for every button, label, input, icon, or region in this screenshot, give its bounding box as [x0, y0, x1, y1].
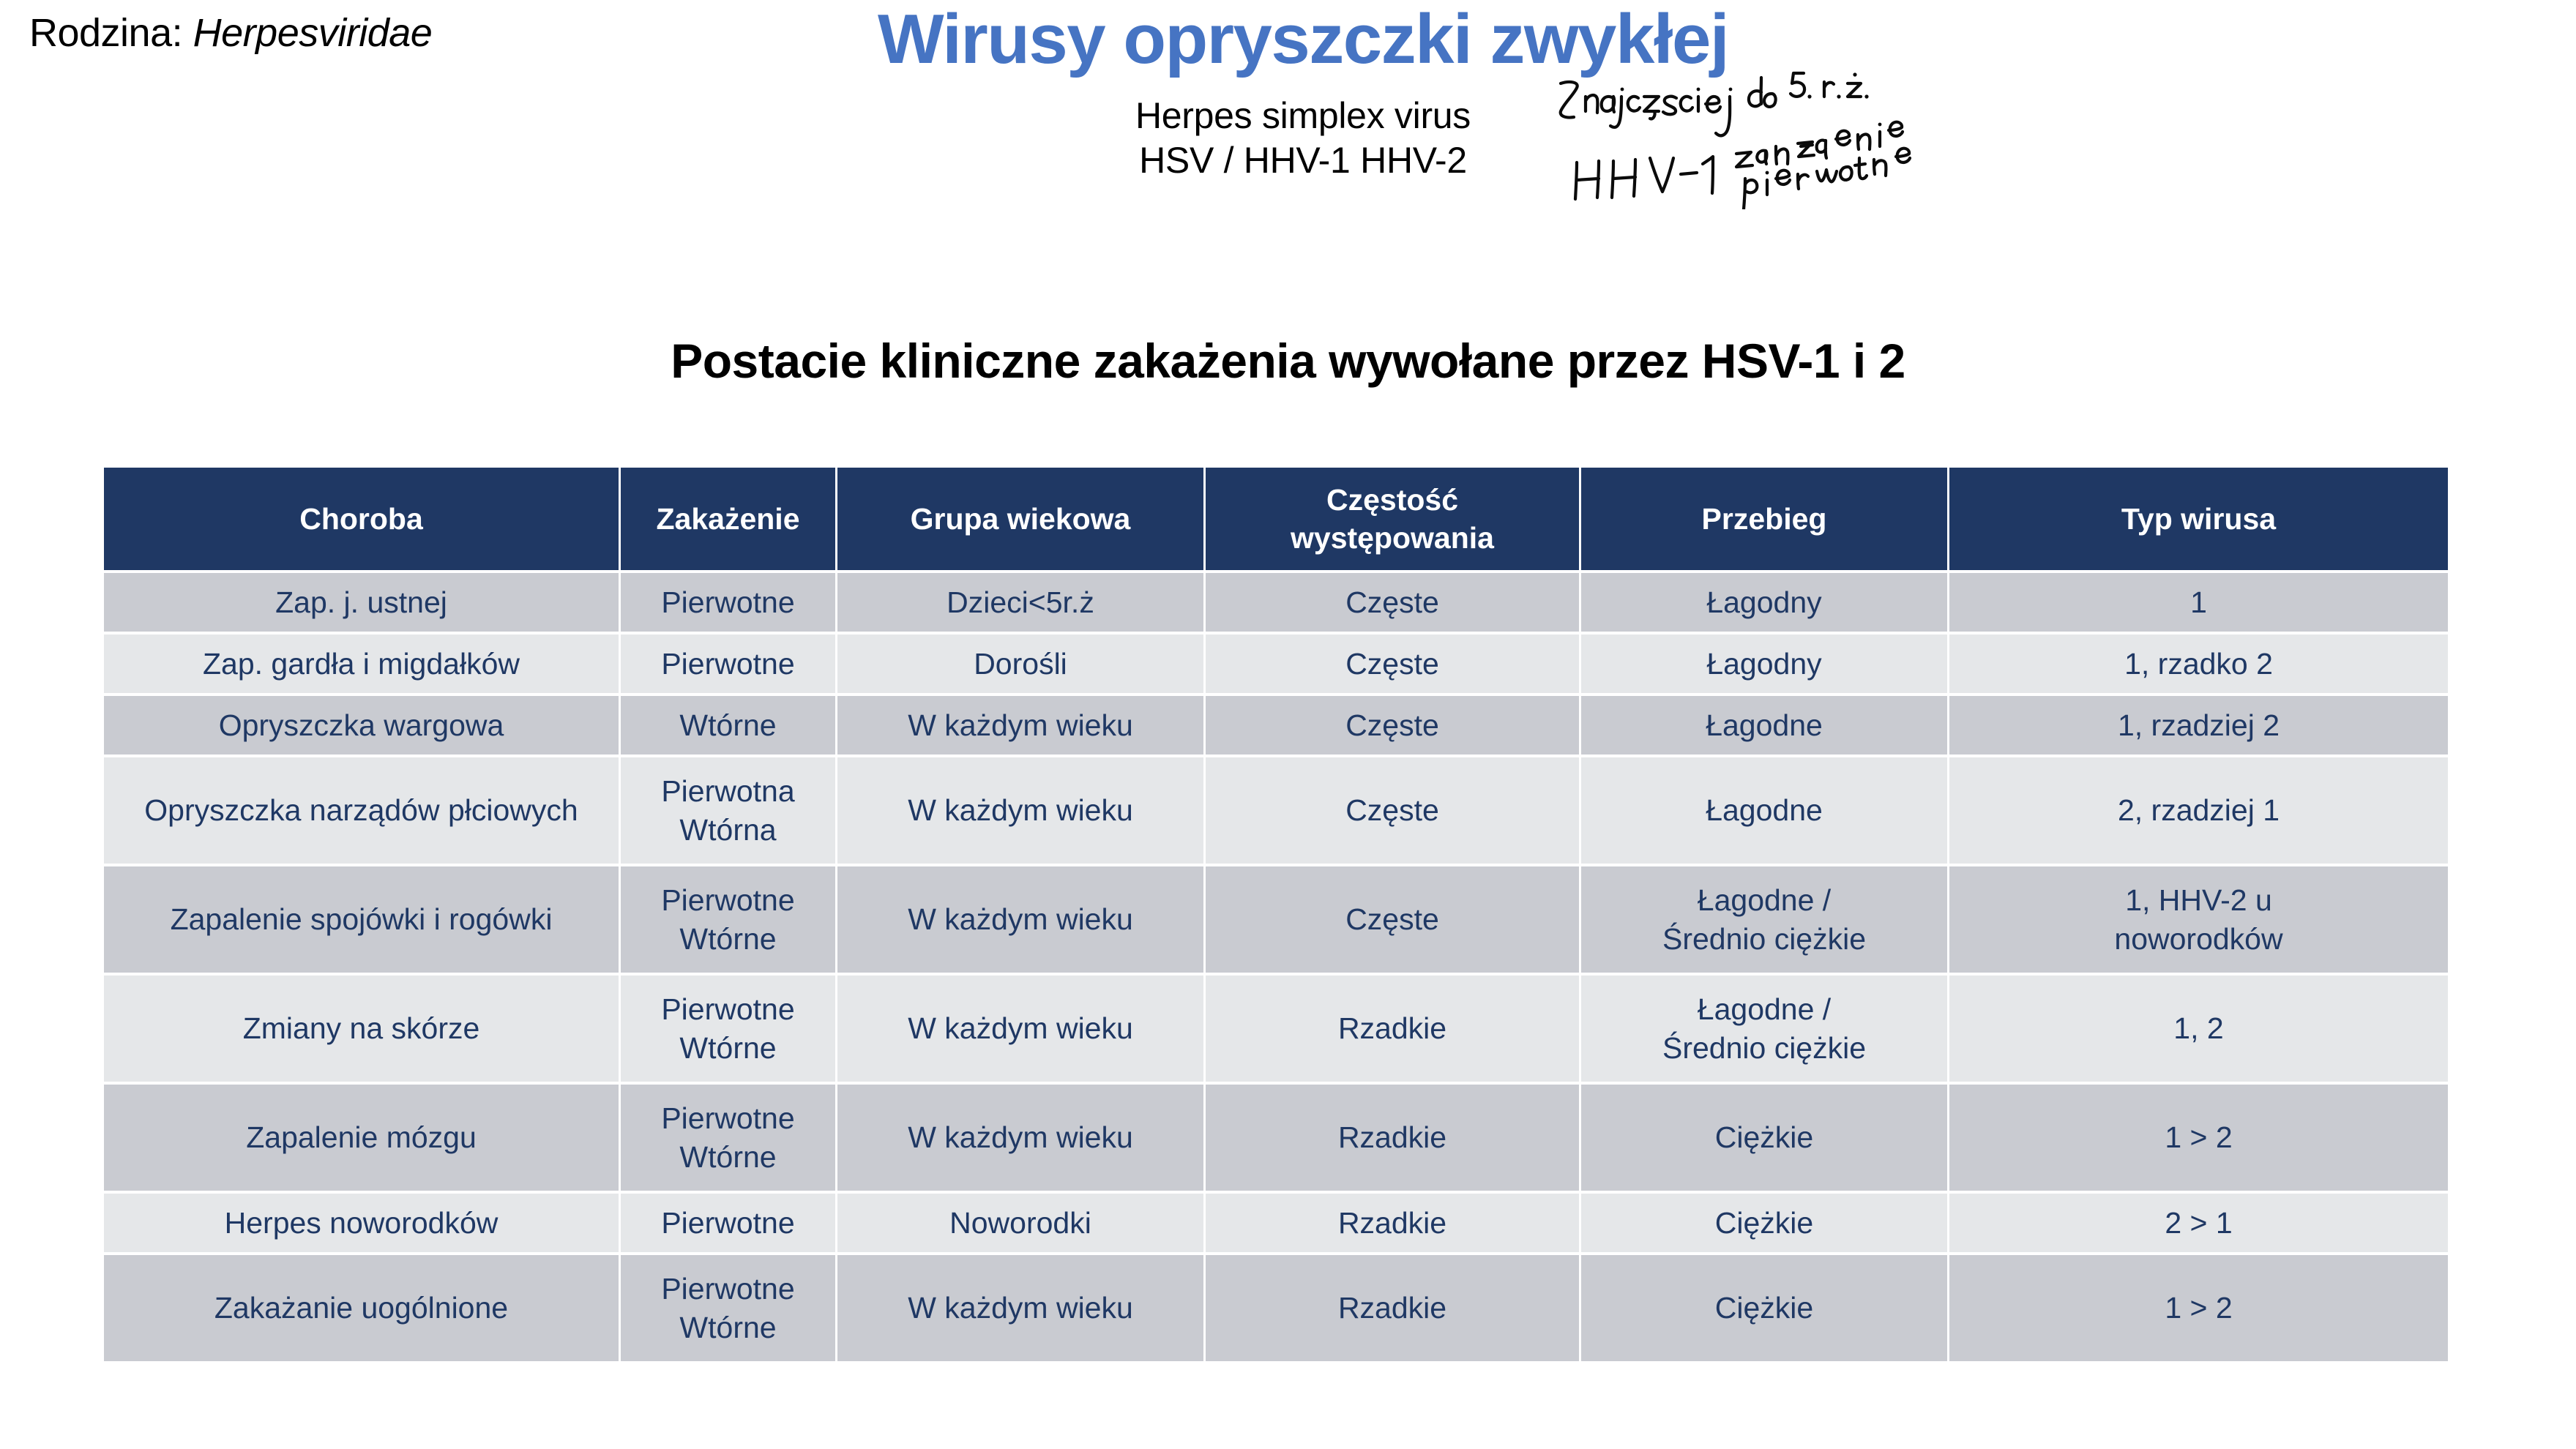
cell-grupa-wiekowa-line-1: Dorośli [845, 645, 1196, 683]
cell-czestosc-line-1: Rzadkie [1213, 1289, 1572, 1327]
table-row[interactable]: Zapalenie mózguPierwotneWtórneW każdym w… [104, 1085, 2448, 1191]
cell-czestosc-line-1: Częste [1213, 706, 1572, 744]
table-row[interactable]: Opryszczka narządów płciowychPierwotnaWt… [104, 757, 2448, 864]
cell-choroba-line-1: Herpes noworodków [111, 1204, 611, 1242]
cell-grupa-wiekowa-line-1: W każdym wieku [845, 791, 1196, 829]
family-label-name: Herpesviridae [193, 11, 433, 55]
table-body: Zap. j. ustnejPierwotneDzieci<5r.żCzęste… [104, 573, 2448, 1361]
cell-przebieg: Ciężkie [1581, 1255, 1947, 1361]
cell-przebieg-line-1: Łagodne [1588, 706, 1940, 744]
table-row[interactable]: Herpes noworodkówPierwotneNoworodkiRzadk… [104, 1194, 2448, 1252]
cell-grupa-wiekowa-line-1: W każdym wieku [845, 1289, 1196, 1327]
cell-typ-wirusa: 1 > 2 [1949, 1255, 2448, 1361]
cell-typ-wirusa-line-1: 1, rzadziej 2 [1957, 706, 2441, 744]
cell-zakazenie: PierwotnaWtórna [621, 757, 835, 864]
column-header-typ-wirusa-line-1: Typ wirusa [1957, 500, 2441, 538]
column-header-grupa-wiekowa-line-1: Grupa wiekowa [845, 500, 1196, 538]
cell-grupa-wiekowa: W każdym wieku [837, 696, 1203, 755]
table-row[interactable]: Zap. j. ustnejPierwotneDzieci<5r.żCzęste… [104, 573, 2448, 632]
cell-czestosc: Częste [1206, 573, 1579, 632]
cell-zakazenie-line-2: Wtórna [628, 811, 828, 849]
cell-choroba: Zap. j. ustnej [104, 573, 619, 632]
cell-typ-wirusa: 1 > 2 [1949, 1085, 2448, 1191]
column-header-przebieg[interactable]: Przebieg [1581, 468, 1947, 570]
cell-przebieg-line-1: Łagodne [1588, 791, 1940, 829]
cell-typ-wirusa-line-2: noworodków [1957, 920, 2441, 958]
cell-zakazenie-line-1: Pierwotna [628, 772, 828, 810]
cell-grupa-wiekowa-line-1: Dzieci<5r.ż [845, 583, 1196, 621]
cell-zakazenie: PierwotneWtórne [621, 976, 835, 1082]
cell-typ-wirusa-line-1: 1, rzadko 2 [1957, 645, 2441, 683]
cell-zakazenie-line-1: Pierwotne [628, 1270, 828, 1308]
cell-czestosc-line-1: Rzadkie [1213, 1118, 1572, 1156]
cell-przebieg-line-1: Ciężkie [1588, 1204, 1940, 1242]
cell-czestosc: Rzadkie [1206, 1194, 1579, 1252]
cell-grupa-wiekowa-line-1: W każdym wieku [845, 1118, 1196, 1156]
cell-typ-wirusa-line-1: 1 [1957, 583, 2441, 621]
cell-typ-wirusa: 1, 2 [1949, 976, 2448, 1082]
cell-choroba: Zapalenie spojówki i rogówki [104, 866, 619, 973]
table-header-row: Choroba Zakażenie Grupa wiekowa Częstość… [104, 468, 2448, 570]
cell-typ-wirusa: 1, rzadko 2 [1949, 634, 2448, 693]
slide-subtitle-line-2: HSV / HHV-1 HHV-2 [783, 138, 1823, 183]
column-header-czestosc-line-1: Częstość [1213, 481, 1572, 519]
section-title: Postacie kliniczne zakażenia wywołane pr… [0, 333, 2576, 389]
cell-zakazenie-line-1: Pierwotne [628, 583, 828, 621]
cell-choroba: Zmiany na skórze [104, 976, 619, 1082]
cell-zakazenie: PierwotneWtórne [621, 1255, 835, 1361]
column-header-zakazenie[interactable]: Zakażenie [621, 468, 835, 570]
cell-typ-wirusa: 1, rzadziej 2 [1949, 696, 2448, 755]
cell-grupa-wiekowa: W każdym wieku [837, 1255, 1203, 1361]
slide-title-text: Wirusy opryszczki zwykłej [783, 3, 1823, 77]
cell-przebieg-line-1: Ciężkie [1588, 1289, 1940, 1327]
cell-zakazenie: Wtórne [621, 696, 835, 755]
cell-zakazenie: PierwotneWtórne [621, 866, 835, 973]
cell-przebieg-line-1: Łagodne / [1588, 881, 1940, 919]
cell-choroba-line-1: Zapalenie mózgu [111, 1118, 611, 1156]
cell-choroba: Opryszczka narządów płciowych [104, 757, 619, 864]
clinical-forms-table: Choroba Zakażenie Grupa wiekowa Częstość… [102, 465, 2450, 1364]
family-label-prefix: Rodzina: [29, 11, 182, 55]
cell-przebieg-line-2: Średnio ciężkie [1588, 920, 1940, 958]
cell-grupa-wiekowa: W każdym wieku [837, 1085, 1203, 1191]
cell-przebieg: Łagodne /Średnio ciężkie [1581, 976, 1947, 1082]
cell-zakazenie-line-1: Wtórne [628, 706, 828, 744]
cell-typ-wirusa: 2, rzadziej 1 [1949, 757, 2448, 864]
cell-choroba: Herpes noworodków [104, 1194, 619, 1252]
cell-zakazenie-line-1: Pierwotne [628, 881, 828, 919]
cell-przebieg-line-1: Łagodne / [1588, 990, 1940, 1028]
cell-choroba-line-1: Zap. j. ustnej [111, 583, 611, 621]
table-header: Choroba Zakażenie Grupa wiekowa Częstość… [104, 468, 2448, 570]
cell-typ-wirusa: 1, HHV-2 unoworodków [1949, 866, 2448, 973]
cell-zakazenie-line-1: Pierwotne [628, 1099, 828, 1137]
cell-choroba-line-1: Zapalenie spojówki i rogówki [111, 900, 611, 938]
cell-grupa-wiekowa-line-1: W każdym wieku [845, 706, 1196, 744]
cell-czestosc: Częste [1206, 696, 1579, 755]
cell-grupa-wiekowa: Noworodki [837, 1194, 1203, 1252]
cell-przebieg: Ciężkie [1581, 1194, 1947, 1252]
cell-choroba-line-1: Zakażanie uogólnione [111, 1289, 611, 1327]
column-header-czestosc-wystepowania[interactable]: Częstość występowania [1206, 468, 1579, 570]
cell-choroba: Zap. gardła i migdałków [104, 634, 619, 693]
family-label: Rodzina: Herpesviridae [29, 10, 432, 56]
cell-czestosc-line-1: Częste [1213, 583, 1572, 621]
cell-przebieg-line-2: Średnio ciężkie [1588, 1029, 1940, 1067]
cell-zakazenie-line-2: Wtórne [628, 1308, 828, 1347]
cell-przebieg-line-1: Łagodny [1588, 583, 1940, 621]
cell-zakazenie-line-1: Pierwotne [628, 1204, 828, 1242]
cell-przebieg: Łagodne [1581, 696, 1947, 755]
cell-czestosc: Częste [1206, 757, 1579, 864]
cell-choroba: Opryszczka wargowa [104, 696, 619, 755]
cell-czestosc: Rzadkie [1206, 1085, 1579, 1191]
column-header-przebieg-line-1: Przebieg [1588, 500, 1940, 538]
table-row[interactable]: Zapalenie spojówki i rogówkiPierwotneWtó… [104, 866, 2448, 973]
cell-czestosc-line-1: Rzadkie [1213, 1009, 1572, 1047]
cell-zakazenie-line-1: Pierwotne [628, 645, 828, 683]
cell-grupa-wiekowa: Dorośli [837, 634, 1203, 693]
cell-czestosc-line-1: Częste [1213, 645, 1572, 683]
cell-zakazenie: Pierwotne [621, 634, 835, 693]
cell-grupa-wiekowa: Dzieci<5r.ż [837, 573, 1203, 632]
cell-grupa-wiekowa: W każdym wieku [837, 866, 1203, 973]
cell-czestosc: Rzadkie [1206, 976, 1579, 1082]
cell-choroba: Zapalenie mózgu [104, 1085, 619, 1191]
cell-zakazenie: Pierwotne [621, 573, 835, 632]
table-row[interactable]: Zakażanie uogólnionePierwotneWtórneW każ… [104, 1255, 2448, 1361]
cell-zakazenie-line-2: Wtórne [628, 1029, 828, 1067]
cell-przebieg: Łagodne /Średnio ciężkie [1581, 866, 1947, 973]
slide-title: Wirusy opryszczki zwykłej [783, 3, 1823, 77]
cell-zakazenie-line-2: Wtórne [628, 1138, 828, 1176]
cell-zakazenie-line-2: Wtórne [628, 920, 828, 958]
cell-typ-wirusa-line-1: 1, 2 [1957, 1009, 2441, 1047]
table-row[interactable]: Opryszczka wargowaWtórneW każdym wiekuCz… [104, 696, 2448, 755]
cell-choroba-line-1: Zmiany na skórze [111, 1009, 611, 1047]
cell-grupa-wiekowa-line-1: W każdym wieku [845, 900, 1196, 938]
cell-przebieg-line-1: Łagodny [1588, 645, 1940, 683]
cell-przebieg: Ciężkie [1581, 1085, 1947, 1191]
cell-przebieg: Łagodny [1581, 634, 1947, 693]
cell-zakazenie-line-1: Pierwotne [628, 990, 828, 1028]
column-header-zakazenie-line-1: Zakażenie [628, 500, 828, 538]
column-header-czestosc-line-2: występowania [1213, 519, 1572, 557]
column-header-choroba-line-1: Choroba [111, 500, 611, 538]
cell-grupa-wiekowa-line-1: Noworodki [845, 1204, 1196, 1242]
cell-czestosc: Częste [1206, 634, 1579, 693]
cell-przebieg: Łagodne [1581, 757, 1947, 864]
cell-zakazenie: PierwotneWtórne [621, 1085, 835, 1191]
cell-typ-wirusa: 2 > 1 [1949, 1194, 2448, 1252]
cell-grupa-wiekowa: W każdym wieku [837, 757, 1203, 864]
cell-czestosc-line-1: Rzadkie [1213, 1204, 1572, 1242]
table-row[interactable]: Zap. gardła i migdałkówPierwotneDorośliC… [104, 634, 2448, 693]
cell-choroba-line-1: Opryszczka wargowa [111, 706, 611, 744]
cell-czestosc: Rzadkie [1206, 1255, 1579, 1361]
cell-typ-wirusa-line-1: 2, rzadziej 1 [1957, 791, 2441, 829]
cell-grupa-wiekowa: W każdym wieku [837, 976, 1203, 1082]
table-row[interactable]: Zmiany na skórzePierwotneWtórneW każdym … [104, 976, 2448, 1082]
cell-typ-wirusa: 1 [1949, 573, 2448, 632]
cell-czestosc-line-1: Częste [1213, 900, 1572, 938]
cell-przebieg-line-1: Ciężkie [1588, 1118, 1940, 1156]
slide-canvas: Rodzina: Herpesviridae Wirusy opryszczki… [0, 0, 2576, 1449]
cell-przebieg: Łagodny [1581, 573, 1947, 632]
slide-subtitle-line-1: Herpes simplex virus [783, 94, 1823, 138]
cell-grupa-wiekowa-line-1: W każdym wieku [845, 1009, 1196, 1047]
column-header-typ-wirusa[interactable]: Typ wirusa [1949, 468, 2448, 570]
cell-typ-wirusa-line-1: 2 > 1 [1957, 1204, 2441, 1242]
cell-choroba-line-1: Zap. gardła i migdałków [111, 645, 611, 683]
cell-czestosc: Częste [1206, 866, 1579, 973]
column-header-grupa-wiekowa[interactable]: Grupa wiekowa [837, 468, 1203, 570]
cell-typ-wirusa-line-1: 1 > 2 [1957, 1118, 2441, 1156]
cell-czestosc-line-1: Częste [1213, 791, 1572, 829]
cell-zakazenie: Pierwotne [621, 1194, 835, 1252]
cell-choroba-line-1: Opryszczka narządów płciowych [111, 791, 611, 829]
cell-choroba: Zakażanie uogólnione [104, 1255, 619, 1361]
cell-typ-wirusa-line-1: 1 > 2 [1957, 1289, 2441, 1327]
column-header-choroba[interactable]: Choroba [104, 468, 619, 570]
slide-subtitle: Herpes simplex virus HSV / HHV-1 HHV-2 [783, 94, 1823, 183]
cell-typ-wirusa-line-1: 1, HHV-2 u [1957, 881, 2441, 919]
